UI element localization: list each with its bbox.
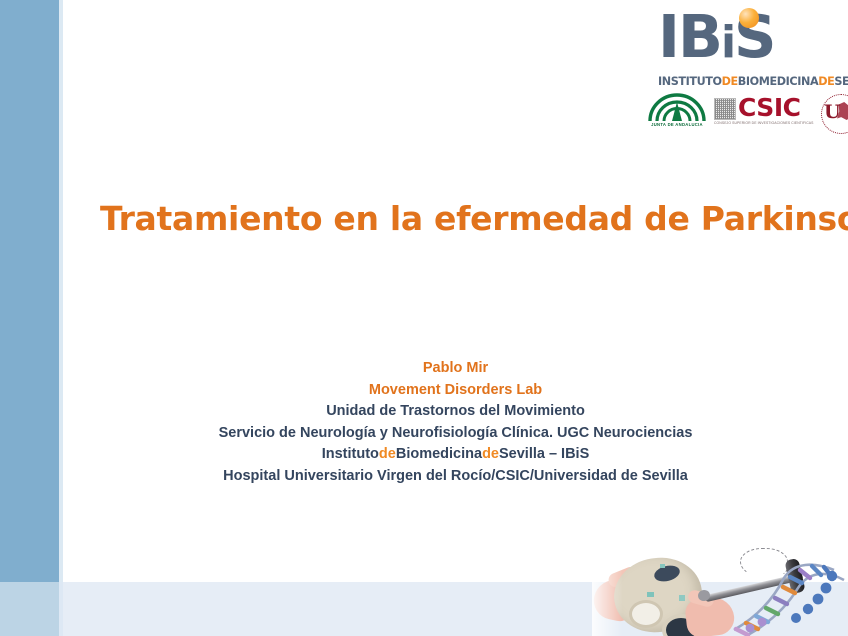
ibis-logo-subtitle: INSTITUTODEBIOMEDICINADESEVILLA — [636, 75, 844, 88]
left-accent-gap-top — [59, 0, 63, 582]
junta-de-andalucia-logo: JUNTA DE ANDALUCIA — [646, 93, 708, 133]
ibis-sub-instituto: INSTITUTO — [658, 75, 722, 88]
universidad-de-sevilla-logo: U — [818, 92, 848, 136]
ibis-sub-de-1: DE — [722, 75, 738, 88]
institute-part-2: Biomedicina — [396, 446, 482, 462]
csic-seal-icon — [714, 98, 736, 120]
slide-title: Tratamiento en la efermedad de Parkinson — [100, 198, 800, 240]
ibis-sub-sevilla: SEVILLA — [834, 75, 848, 88]
logo-group-header: IBiS INSTITUTODEBIOMEDICINADESEVILLA — [630, 6, 844, 88]
junta-logo-label: JUNTA DE ANDALUCIA — [646, 122, 708, 127]
author-affiliation-block: Pablo Mir Movement Disorders Lab Unidad … — [63, 358, 848, 487]
us-monogram: U — [824, 103, 841, 122]
presentation-slide: IBiS INSTITUTODEBIOMEDICINADESEVILLA JUN… — [0, 0, 848, 636]
csic-logo: CSIC CONSEJO SUPERIOR DE INVESTIGACIONES… — [714, 97, 814, 131]
frame-marker-2-icon — [679, 595, 685, 601]
institute-de-1: de — [379, 446, 396, 462]
dna-helix-icon — [728, 562, 848, 636]
ibis-logo-dot-icon — [739, 8, 759, 28]
author-lab: Movement Disorders Lab — [63, 380, 848, 402]
institute-part-3: Sevilla – IBiS — [499, 446, 589, 462]
author-institute: InstitutodeBiomedicinadeSevilla – IBiS — [63, 444, 848, 466]
author-hospital: Hospital Universitario Virgen del Rocío/… — [63, 466, 848, 488]
footer-medical-photo — [592, 540, 848, 636]
partner-logo-row: JUNTA DE ANDALUCIA CSIC CONSEJO SUPERIOR… — [622, 92, 844, 136]
csic-wordmark: CSIC — [738, 95, 800, 121]
institute-part-1: Instituto — [322, 446, 379, 462]
frame-aperture-mid-icon — [629, 600, 663, 628]
author-name: Pablo Mir — [63, 358, 848, 380]
institute-de-2: de — [482, 446, 499, 462]
frame-marker-3-icon — [660, 564, 665, 568]
author-unit: Unidad de Trastornos del Movimiento — [63, 401, 848, 423]
ibis-wordmark-i: i — [721, 17, 734, 68]
junta-arcs-icon — [648, 93, 706, 123]
ibis-wordmark-ib: IB — [658, 2, 721, 71]
author-service: Servicio de Neurología y Neurofisiología… — [63, 423, 848, 445]
ibis-logo: IBiS INSTITUTODEBIOMEDICINADESEVILLA — [636, 6, 844, 88]
csic-tagline: CONSEJO SUPERIOR DE INVESTIGACIONES CIEN… — [714, 121, 812, 125]
frame-marker-1-icon — [647, 592, 654, 597]
left-accent-bar-bottom — [0, 582, 59, 636]
ibis-sub-biomedicina: BIOMEDICINA — [738, 75, 818, 88]
ibis-sub-de-2: DE — [818, 75, 834, 88]
left-accent-bar-top — [0, 0, 59, 582]
